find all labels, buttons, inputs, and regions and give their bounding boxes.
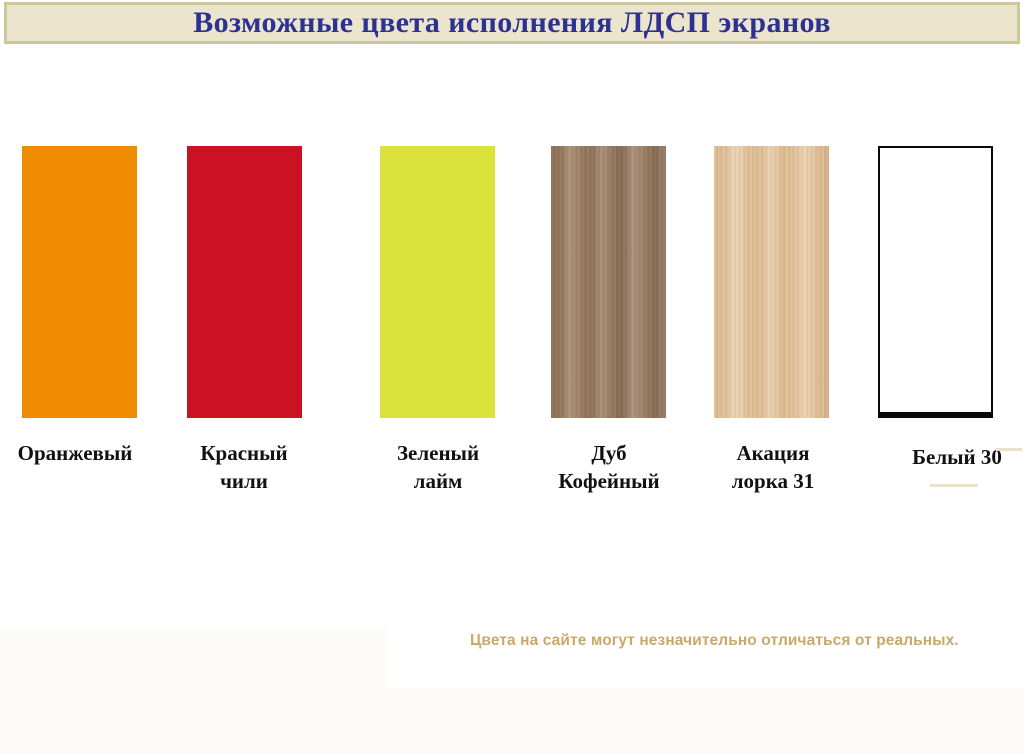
scan-artifact-line-top	[996, 448, 1022, 451]
swatch-item-acacia-lorca-31[interactable]: Акация лорка 31	[714, 140, 904, 520]
page-title: Возможные цвета исполнения ЛДСП экранов	[193, 8, 831, 38]
swatch-chip-green-lime[interactable]	[380, 146, 495, 418]
swatch-item-red-chili[interactable]: Красный чили	[187, 140, 377, 520]
scan-artifact-line-bottom	[930, 484, 978, 487]
swatch-chip-orange[interactable]	[22, 146, 137, 418]
swatch-chip-white-30[interactable]	[878, 146, 993, 418]
scan-artifact-panel-lower	[0, 688, 1024, 754]
swatch-chip-oak-coffee[interactable]	[551, 146, 666, 418]
swatch-label-orange: Оранжевый	[0, 440, 155, 468]
swatch-item-white-30[interactable]: Белый 30	[878, 140, 1024, 520]
swatch-label-oak-coffee: Дуб Кофейный	[529, 440, 689, 495]
color-swatch-strip: Оранжевый Красный чили Зеленый лайм Дуб …	[0, 140, 1024, 520]
swatch-label-green-lime: Зеленый лайм	[358, 440, 518, 495]
swatch-label-acacia-lorca-31: Акация лорка 31	[693, 440, 853, 495]
swatch-chip-red-chili[interactable]	[187, 146, 302, 418]
swatch-chip-acacia-lorca-31[interactable]	[714, 146, 829, 418]
color-disclaimer-note: Цвета на сайте могут незначительно отлич…	[470, 632, 1015, 650]
title-banner: Возможные цвета исполнения ЛДСП экранов	[4, 2, 1020, 44]
swatch-label-red-chili: Красный чили	[164, 440, 324, 495]
